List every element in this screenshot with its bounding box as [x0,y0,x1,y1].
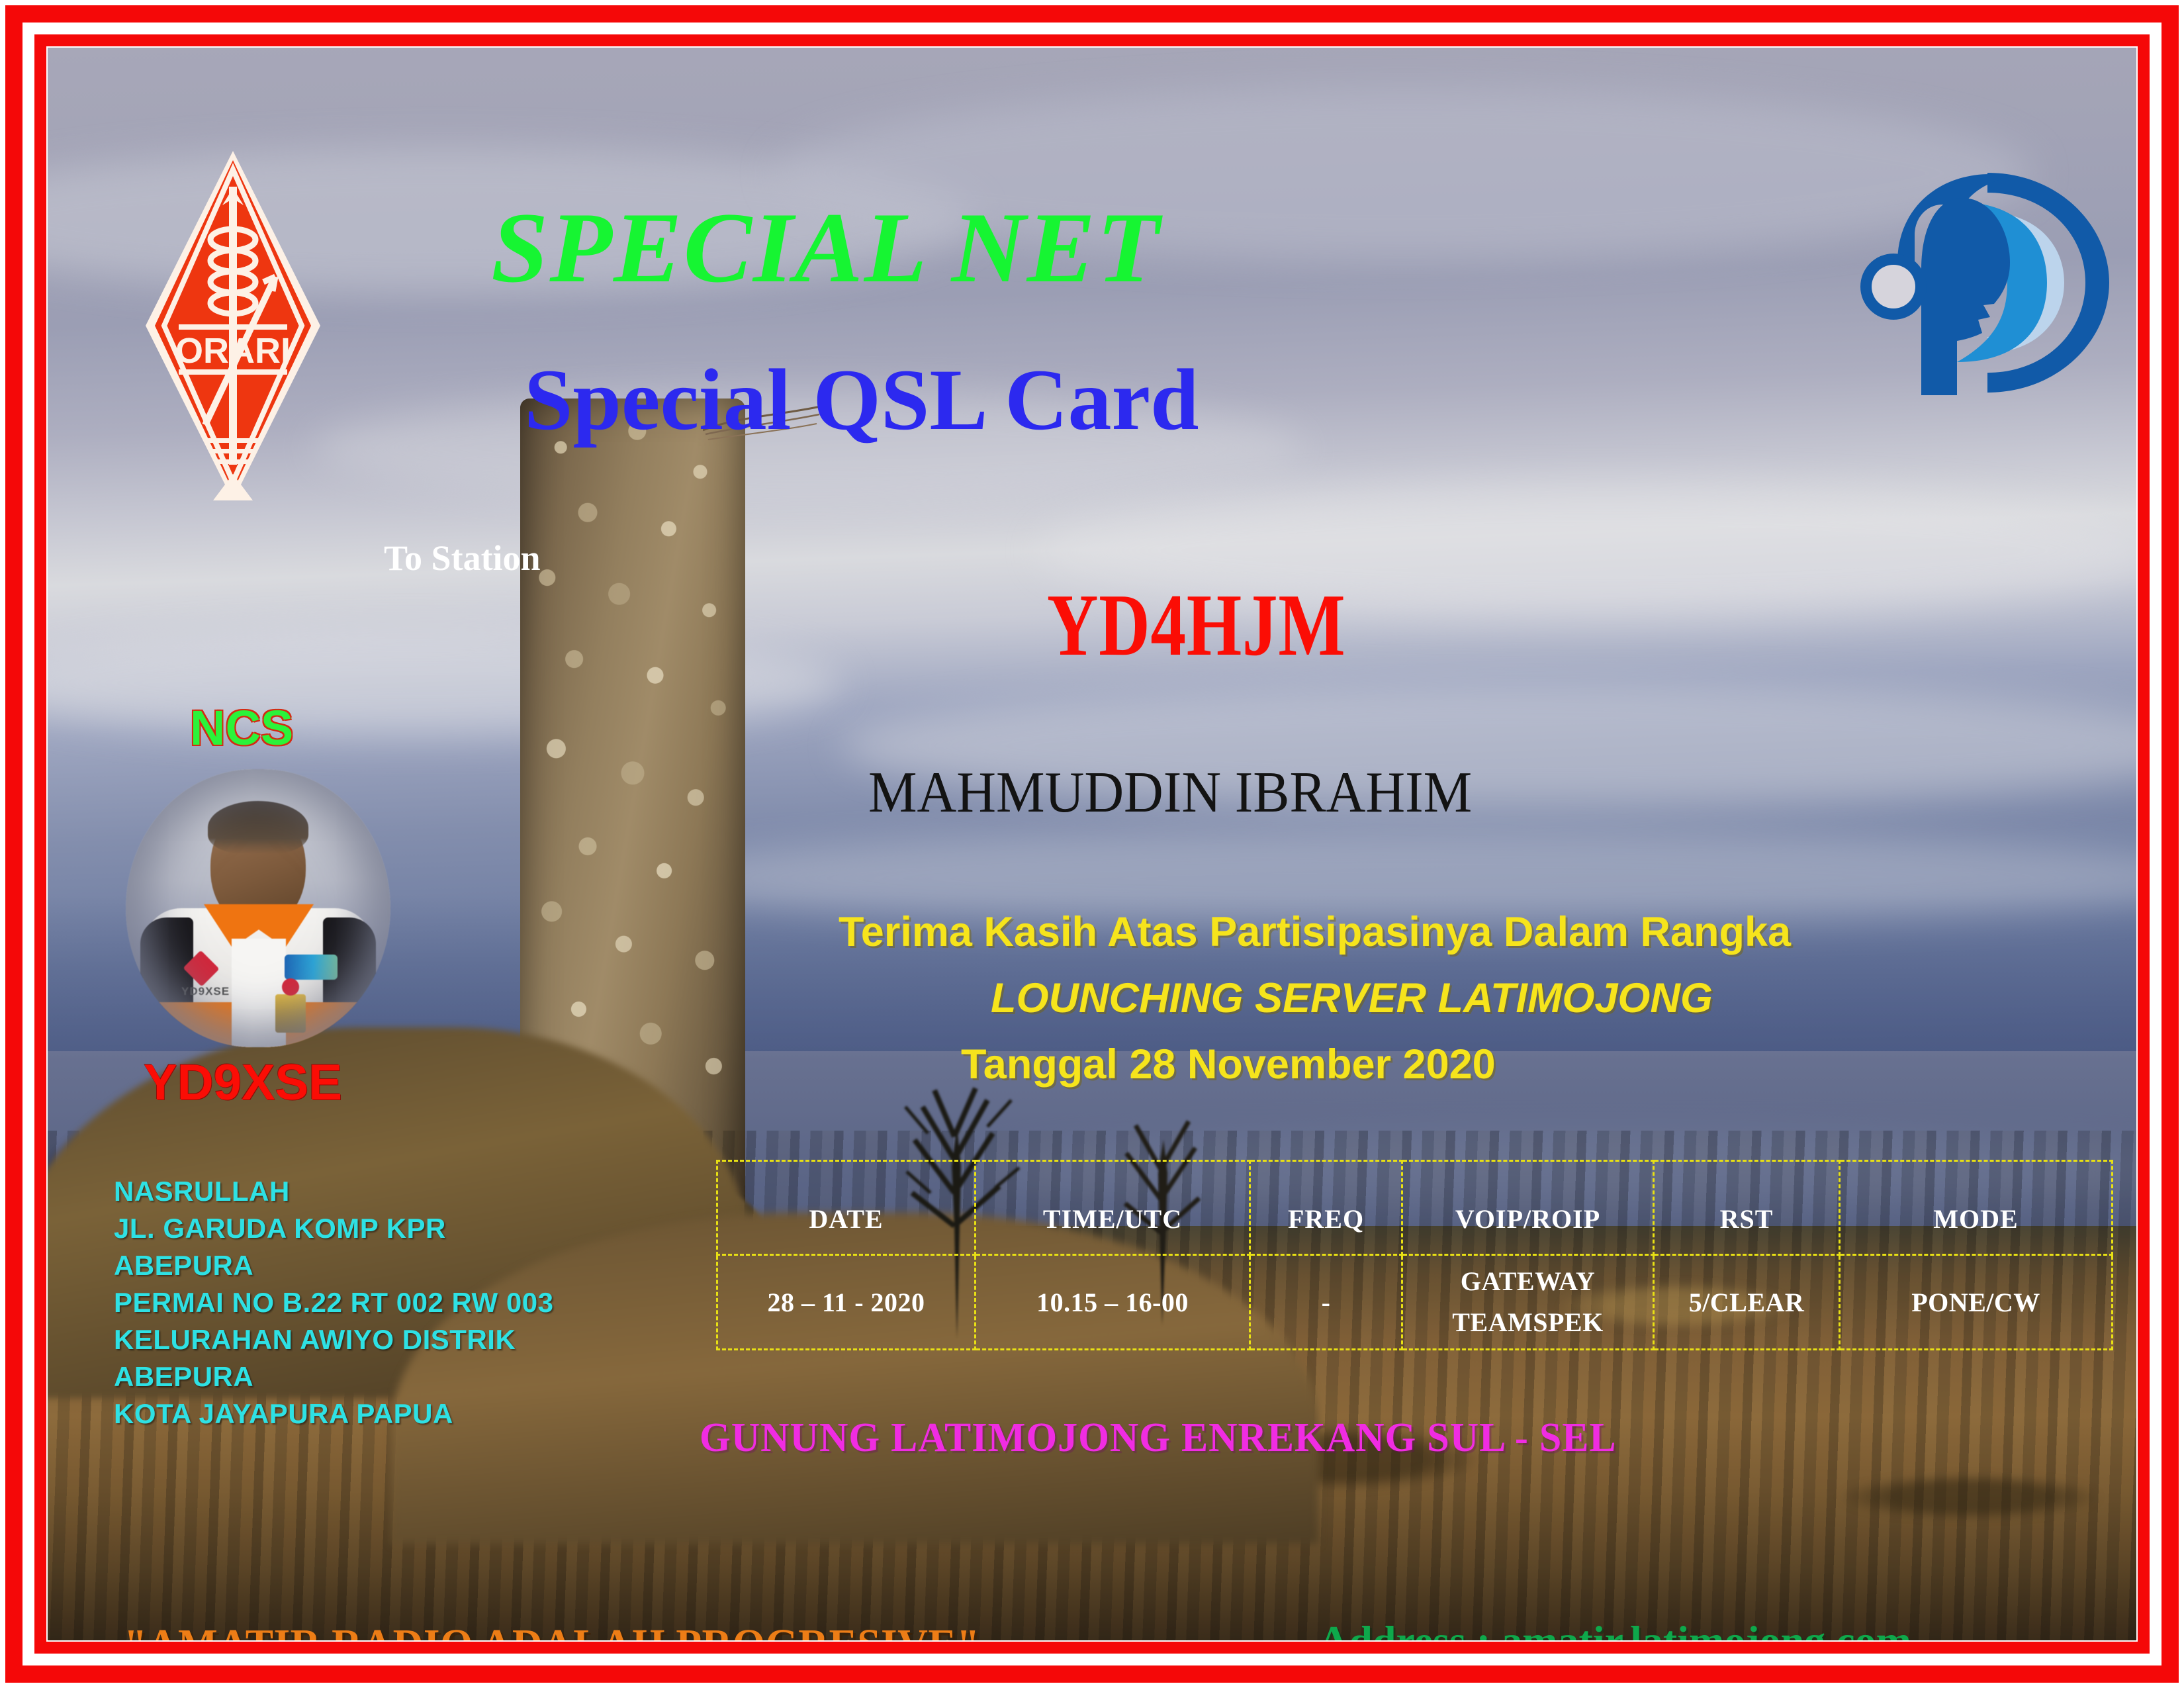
address-line: ABEPURA [114,1247,709,1284]
cell-date: 28 – 11 - 2020 [717,1255,976,1350]
footer-motto: "AMATIR RADIO ADALAH PROGRESIVE" [124,1620,980,1640]
table-row: 28 – 11 - 2020 10.15 – 16-00 - GATEWAY T… [717,1255,2113,1350]
column-header-freq: FREQ [1250,1161,1402,1255]
cell-rst: 5/CLEAR [1654,1255,1840,1350]
column-header-time: TIME/UTC [976,1161,1250,1255]
to-station-label: To Station [384,538,541,579]
cell-voip: GATEWAY TEAMSPEK [1402,1255,1654,1350]
to-station-callsign: YD4HJM [1047,574,1345,676]
cell-voip-line1: GATEWAY [1404,1261,1652,1302]
station-address: NASRULLAH JL. GARUDA KOMP KPR ABEPURA PE… [114,1173,709,1432]
thanks-line-1: Terima Kasih Atas Partisipasinya Dalam R… [839,908,1791,956]
column-header-rst: RST [1654,1161,1840,1255]
address-line: KELURAHAN AWIYO DISTRIK [114,1321,709,1358]
footer-web-address: Address : amatir.latimojong.com [1318,1617,1911,1640]
title-special-qsl-card: Special QSL Card [524,349,1199,450]
event-name: LOUNCHING SERVER LATIMOJONG [991,974,1713,1022]
column-header-voip: VOIP/ROIP [1402,1161,1654,1255]
address-line: JL. GARUDA KOMP KPR [114,1210,709,1247]
orari-logo-text: ORARI [175,331,291,371]
ncs-operator-photo: YD9XSE [126,769,390,1047]
photo-vignette [126,769,390,1047]
radio-headphone-logo [1858,164,2116,402]
column-header-mode: MODE [1840,1161,2113,1255]
qso-log-table: DATE TIME/UTC FREQ VOIP/ROIP RST MODE 28… [716,1160,2113,1350]
event-date: Tanggal 28 November 2020 [961,1041,1496,1088]
cell-freq: - [1250,1255,1402,1350]
address-line: KOTA JAYAPURA PAPUA [114,1395,709,1432]
title-special-net: SPECIAL NET [491,190,1161,305]
address-line: PERMAI NO B.22 RT 002 RW 003 [114,1284,709,1321]
cell-time: 10.15 – 16-00 [976,1255,1250,1350]
background-photo: ORARI [48,48,2136,1640]
address-line: ABEPURA [114,1358,709,1395]
column-header-date: DATE [717,1161,976,1255]
event-location: GUNUNG LATIMOJONG ENREKANG SUL - SEL [700,1415,1616,1462]
cell-mode: PONE/CW [1840,1255,2113,1350]
table-header-row: DATE TIME/UTC FREQ VOIP/ROIP RST MODE [717,1161,2113,1255]
qsl-card: ORARI [0,0,2184,1688]
ncs-label: NCS [190,700,293,756]
ncs-callsign: YD9XSE [144,1054,342,1111]
orari-logo: ORARI [140,147,326,504]
cell-voip-line2: TEAMSPEK [1404,1302,1652,1343]
address-line: NASRULLAH [114,1173,709,1210]
operator-name: MAHMUDDIN IBRAHIM [868,759,1472,826]
